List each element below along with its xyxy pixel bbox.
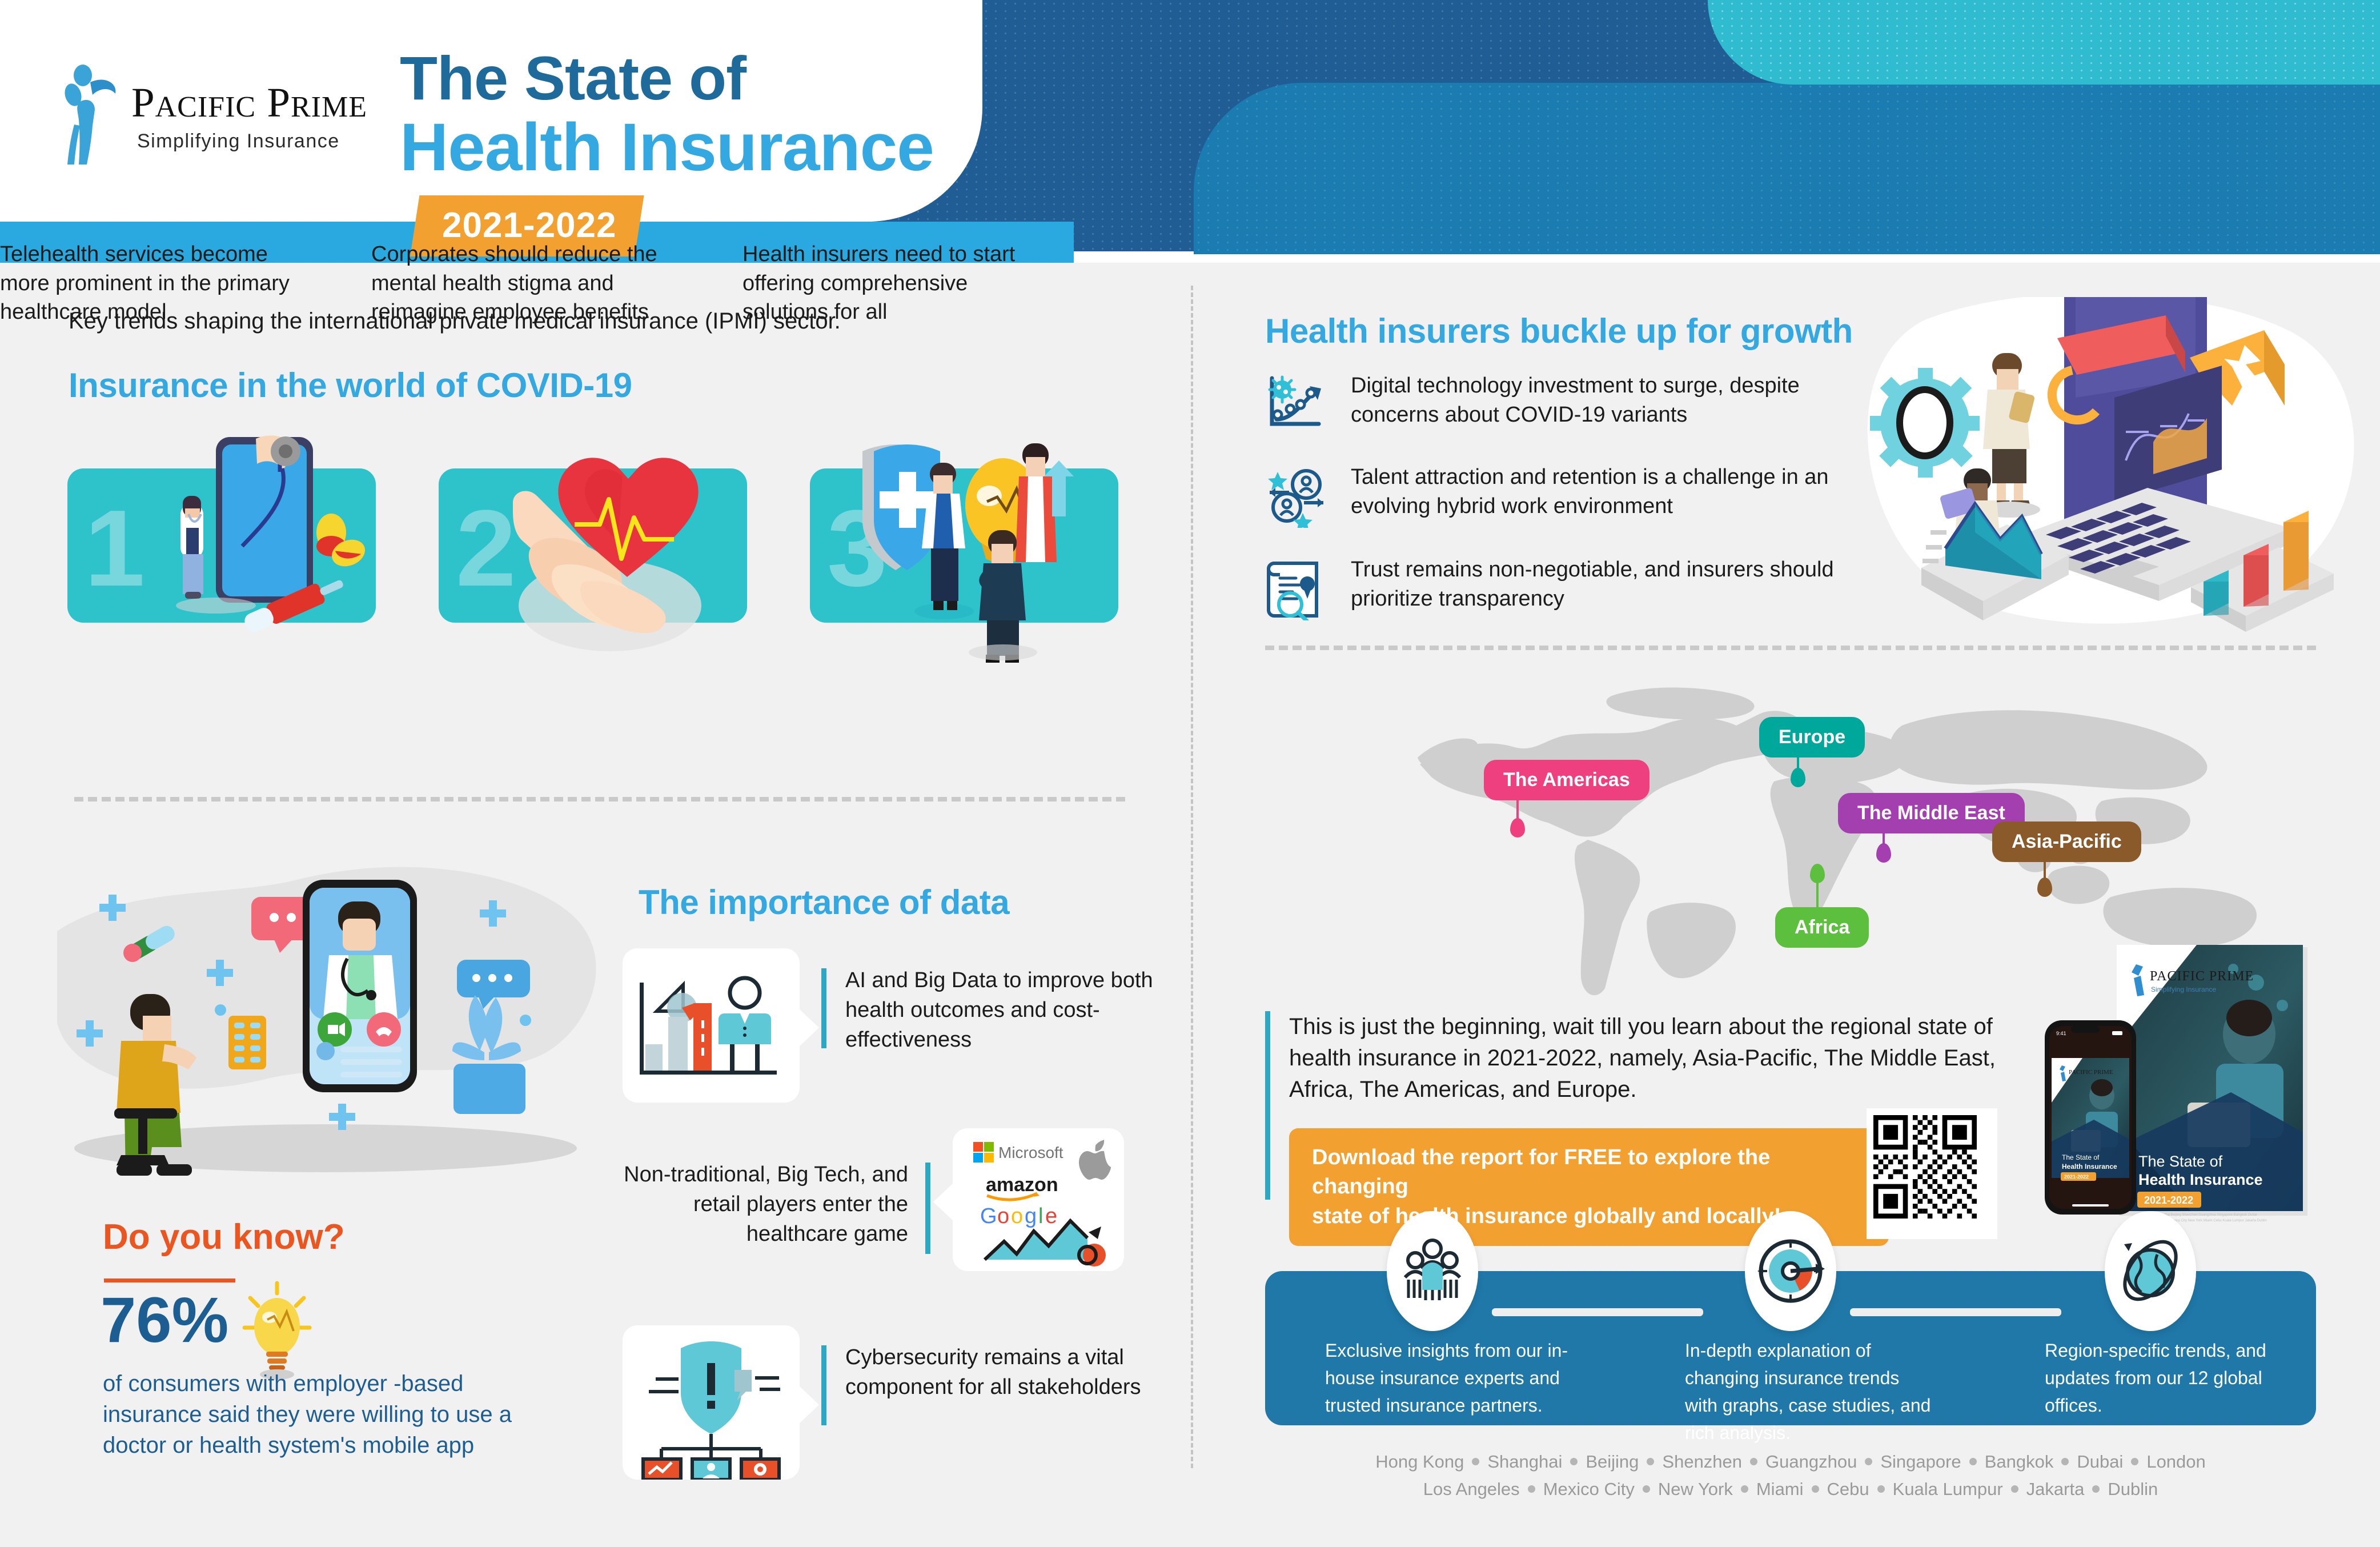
card-number: 1 xyxy=(85,494,145,603)
map-pin-dot-middle-east xyxy=(1876,843,1891,863)
report-title-line-2: Health Insurance xyxy=(2138,1171,2263,1188)
insurers-solutions-illustration-icon xyxy=(821,434,1118,663)
svg-text:G: G xyxy=(980,1204,997,1228)
svg-text:PACIFIC PRIME: PACIFIC PRIME xyxy=(2069,1069,2113,1076)
left-section-divider xyxy=(74,797,1125,801)
feature-icon-2-wrap xyxy=(1745,1211,1836,1331)
city-name: Bangkok xyxy=(1985,1452,2054,1472)
feature-connector-1 xyxy=(1492,1308,1703,1316)
data-icon-box-3 xyxy=(623,1325,800,1480)
do-you-know-heading: Do you know? xyxy=(103,1217,345,1257)
map-pin-dot-europe xyxy=(1791,768,1805,787)
city-name: Hong Kong xyxy=(1375,1452,1464,1472)
city-name: Dublin xyxy=(2108,1479,2158,1499)
city-name: Cebu xyxy=(1827,1479,1869,1499)
city-name: London xyxy=(2146,1452,2205,1472)
report-mockup: PACIFIC PRIME Simplifying Insurance The … xyxy=(2016,914,2336,1245)
telehealth-consultation-illustration-icon xyxy=(57,863,645,1217)
infographic-page: PACIFIC PRIME Simplifying Insurance The … xyxy=(0,0,2380,1547)
do-you-know-rule xyxy=(104,1279,235,1283)
logo-figure-icon xyxy=(63,63,126,166)
city-name: Mexico City xyxy=(1543,1479,1635,1499)
city-name: Dubai xyxy=(2077,1452,2123,1472)
covid-section-heading: Insurance in the world of COVID-19 xyxy=(69,366,632,405)
city-name: Jakarta xyxy=(2026,1479,2085,1499)
data-accent-bar-3 xyxy=(821,1345,826,1425)
certificate-magnifier-icon xyxy=(1265,558,1328,620)
covid-card-2: 2 xyxy=(439,434,747,657)
map-pin-label: Asia-Pacific xyxy=(2012,831,2122,852)
city-name: Beijing xyxy=(1586,1452,1639,1472)
cities-row-1: Hong KongShanghaiBeijingShenzhenGuangzho… xyxy=(1265,1448,2316,1476)
virus-growth-chart-icon xyxy=(1265,374,1328,436)
map-pin-stem-africa xyxy=(1816,880,1819,909)
map-pin-africa[interactable]: Africa xyxy=(1775,907,1869,948)
header-teal-panel xyxy=(1708,0,2380,85)
growth-item-3-text: Trust remains non-negotiable, and insure… xyxy=(1351,555,1865,613)
report-year: 2021-2022 xyxy=(2144,1195,2193,1206)
people-group-icon xyxy=(1387,1211,1478,1331)
pacific-prime-logo: PACIFIC PRIME Simplifying Insurance xyxy=(63,57,366,171)
map-pin-asia-pacific[interactable]: Asia-Pacific xyxy=(1992,821,2141,862)
data-accent-bar-1 xyxy=(821,968,826,1048)
map-pin-dot-americas xyxy=(1510,818,1525,837)
lightbulb-icon xyxy=(240,1279,314,1381)
target-dart-icon xyxy=(1745,1211,1836,1331)
growth-item-1-text: Digital technology investment to surge, … xyxy=(1351,371,1865,429)
covid-card-2-text: Corporates should reduce the mental heal… xyxy=(371,240,680,327)
svg-text:9:41: 9:41 xyxy=(2056,1031,2066,1036)
data-item-3-text: Cybersecurity remains a vital component … xyxy=(845,1342,1165,1402)
do-you-know-body: of consumers with employer -based insura… xyxy=(103,1368,548,1461)
map-pin-label: Africa xyxy=(1795,916,1849,938)
map-pin-label: The Middle East xyxy=(1857,802,2005,824)
feature-text-2: In-depth explanation of changing insuran… xyxy=(1685,1337,1936,1446)
chart-person-icon xyxy=(623,948,800,1103)
covid-card-3-text: Health insurers need to start offering c… xyxy=(743,240,1051,327)
feature-icon-3-wrap xyxy=(2105,1211,2196,1331)
header: PACIFIC PRIME Simplifying Insurance The … xyxy=(0,0,2380,263)
qr-code[interactable] xyxy=(1867,1108,1997,1239)
bigtech-logos-icon: Microsoft amazon Go og le xyxy=(953,1128,1124,1271)
shield-network-icon xyxy=(623,1325,800,1480)
map-pin-dot-asia-pacific xyxy=(2037,877,2052,897)
download-banner-line-1: Download the report for FREE to explore … xyxy=(1312,1143,1866,1202)
cta-paragraph: This is just the beginning, wait till yo… xyxy=(1289,1011,2003,1106)
svg-text:o: o xyxy=(997,1204,1009,1228)
talent-retention-icon xyxy=(1265,465,1328,528)
svg-text:Microsoft: Microsoft xyxy=(998,1144,1063,1161)
growth-section-heading: Health insurers buckle up for growth xyxy=(1265,311,1853,351)
covid-card-1: 1 xyxy=(67,434,376,657)
covid-card-3: 3 xyxy=(810,434,1118,657)
city-name: Shenzhen xyxy=(1662,1452,1742,1472)
map-pin-dot-africa xyxy=(1810,864,1825,883)
heart-in-hands-illustration-icon xyxy=(473,434,741,663)
logo-wordmark: PACIFIC PRIME xyxy=(131,79,367,127)
map-pin-the-americas[interactable]: The Americas xyxy=(1484,760,1649,800)
report-title-line-1: The State of xyxy=(2138,1153,2223,1170)
svg-text:Simplifying Insurance: Simplifying Insurance xyxy=(2151,985,2216,993)
page-title: The State of Health Insurance xyxy=(400,46,934,183)
qr-code-icon xyxy=(1873,1115,1977,1219)
svg-text:amazon: amazon xyxy=(986,1174,1058,1196)
city-name: Shanghai xyxy=(1487,1452,1562,1472)
telehealth-illustration-icon xyxy=(147,434,387,663)
header-mid-blue-panel xyxy=(1194,83,2380,254)
svg-text:e: e xyxy=(1045,1204,1057,1228)
city-name: Guangzhou xyxy=(1765,1452,1857,1472)
svg-text:2021-2022: 2021-2022 xyxy=(2064,1174,2089,1180)
data-icon-box-2: Microsoft amazon Go og le xyxy=(953,1128,1124,1271)
data-item-2-text: Non-traditional, Big Tech, and retail pl… xyxy=(617,1160,908,1249)
cities-row-2: Los AngelesMexico CityNew YorkMiamiCebuK… xyxy=(1265,1476,2316,1503)
title-line-1: The State of xyxy=(400,46,934,110)
feature-connector-2 xyxy=(1850,1308,2061,1316)
report-brand-text: PACIFIC PRIME xyxy=(2150,969,2254,984)
column-divider xyxy=(1191,286,1193,1468)
city-name: Los Angeles xyxy=(1423,1479,1520,1499)
data-icon-box-1 xyxy=(623,948,800,1103)
svg-text:l: l xyxy=(1038,1204,1043,1228)
svg-text:g: g xyxy=(1025,1204,1037,1228)
title-line-2: Health Insurance xyxy=(400,113,934,183)
feature-text-3: Region-specific trends, and updates from… xyxy=(2045,1337,2296,1419)
map-pin-label: Europe xyxy=(1779,726,1845,748)
digital-growth-illustration-icon xyxy=(1845,297,2380,646)
map-pin-europe[interactable]: Europe xyxy=(1759,717,1865,758)
feature-icon-1-wrap xyxy=(1387,1211,1478,1331)
svg-text:o: o xyxy=(1011,1204,1023,1228)
logo-tagline: Simplifying Insurance xyxy=(137,130,340,153)
data-accent-bar-2 xyxy=(925,1163,930,1254)
svg-text:The State of: The State of xyxy=(2062,1153,2100,1161)
right-section-divider xyxy=(1265,646,2316,650)
city-name: Singapore xyxy=(1880,1452,1961,1472)
covid-card-1-text: Telehealth services become more prominen… xyxy=(0,240,308,327)
cta-accent-bar xyxy=(1265,1011,1270,1200)
report-cover-and-phone-icon: PACIFIC PRIME Simplifying Insurance The … xyxy=(2016,914,2336,1245)
city-name: Kuala Lumpur xyxy=(1893,1479,2003,1499)
offices-city-list: Hong KongShanghaiBeijingShenzhenGuangzho… xyxy=(1265,1448,2316,1503)
city-name: Miami xyxy=(1756,1479,1804,1499)
feature-text-1: Exclusive insights from our in-house ins… xyxy=(1325,1337,1576,1419)
globe-orbit-icon xyxy=(2105,1211,2196,1331)
data-section-heading: The importance of data xyxy=(639,883,1009,922)
map-pin-label: The Americas xyxy=(1503,769,1630,791)
statistic-value: 76% xyxy=(101,1288,228,1352)
growth-item-2-text: Talent attraction and retention is a cha… xyxy=(1351,463,1865,520)
data-item-1-text: AI and Big Data to improve both health o… xyxy=(845,965,1165,1055)
city-name: New York xyxy=(1658,1479,1733,1499)
svg-text:Health Insurance: Health Insurance xyxy=(2062,1163,2117,1171)
